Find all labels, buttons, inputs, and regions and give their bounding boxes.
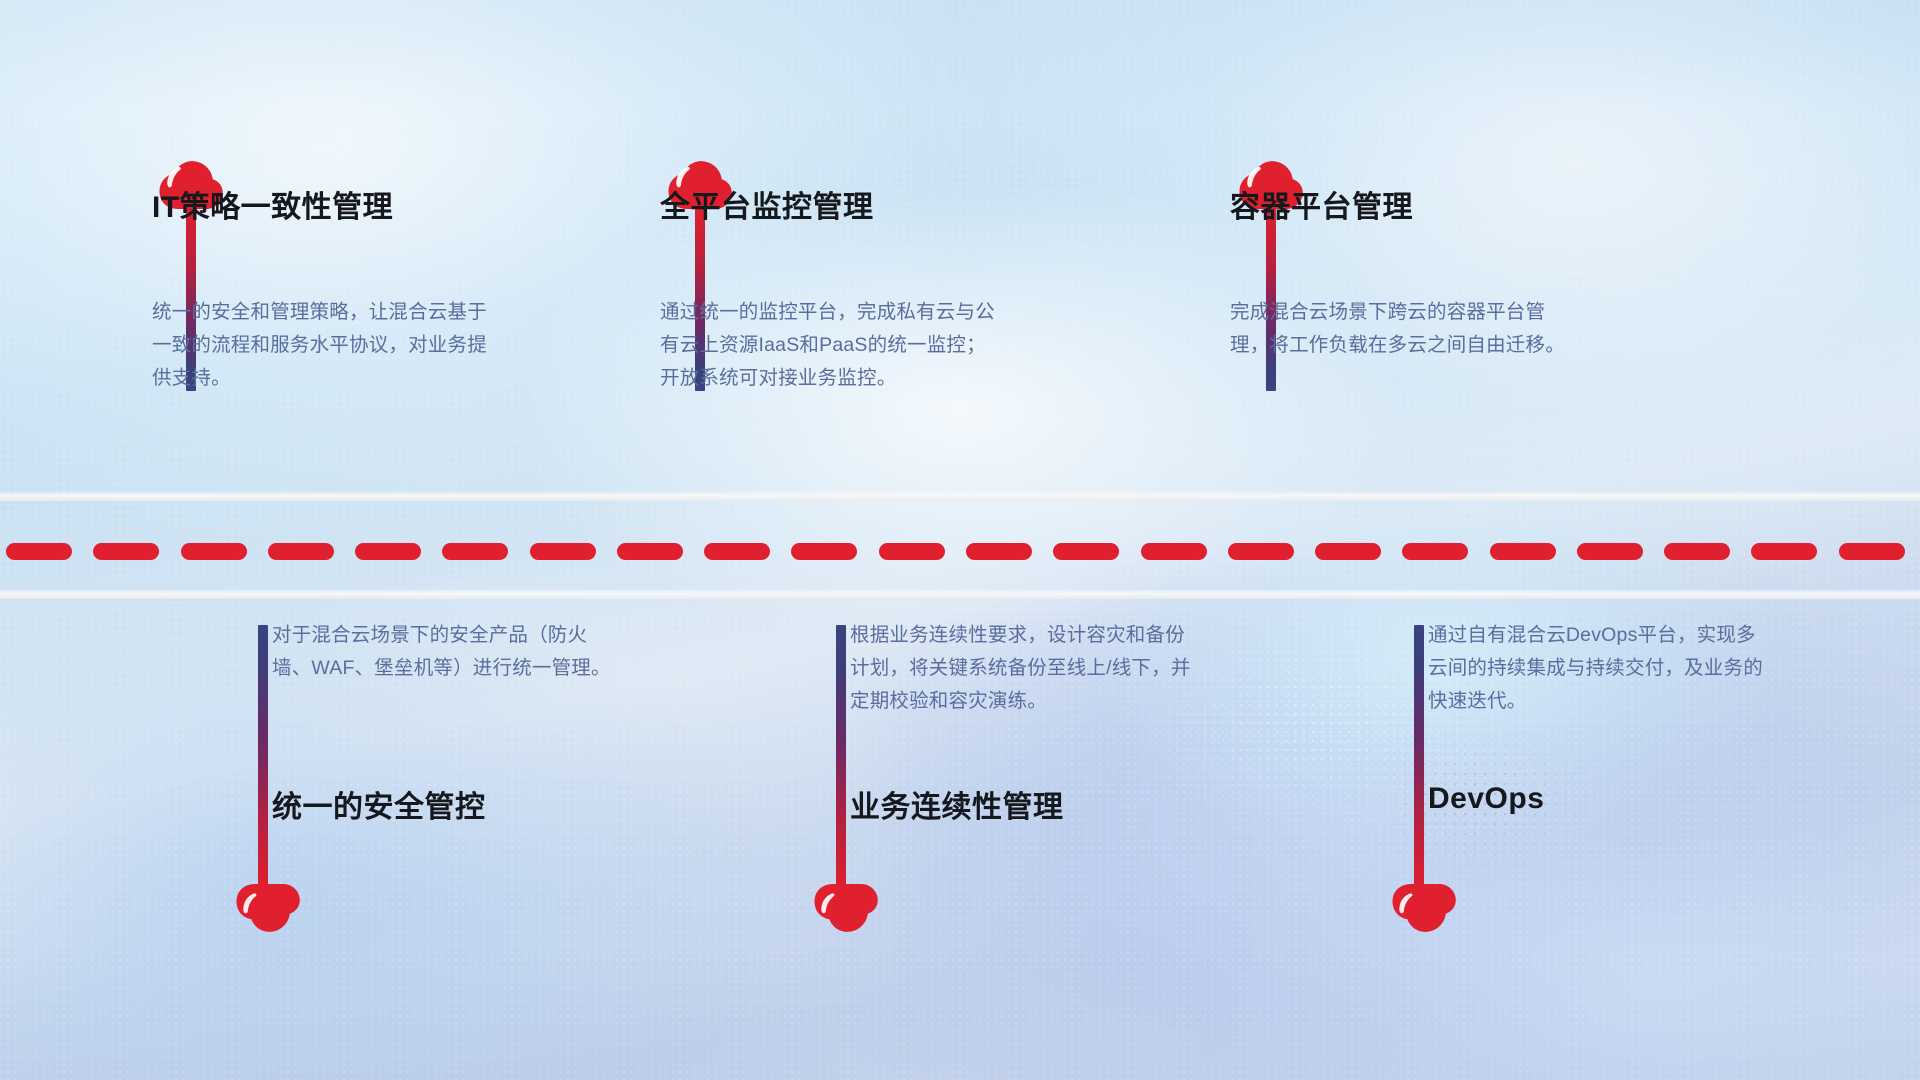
road-dash — [966, 543, 1032, 560]
road-dash — [1751, 543, 1817, 560]
road-dash — [1402, 543, 1468, 560]
cloud-icon — [813, 883, 879, 933]
column-title: 容器平台管理 — [1230, 182, 1413, 226]
road-dash — [1141, 543, 1207, 560]
road-dash — [1490, 543, 1556, 560]
column-body: 通过自有混合云DevOps平台，实现多云间的持续集成与持续交付，及业务的快速迭代… — [1428, 619, 1773, 718]
road-dash — [1664, 543, 1730, 560]
road-center-dashes — [0, 543, 1920, 560]
cloud-icon — [235, 883, 301, 933]
road-dash — [704, 543, 770, 560]
column-body: 对于混合云场景下的安全产品（防火墙、WAF、堡垒机等）进行统一管理。 — [272, 619, 617, 685]
road-dash — [791, 543, 857, 560]
road-dash — [1839, 543, 1905, 560]
column-title: 业务连续性管理 — [850, 782, 1064, 826]
road-dash — [268, 543, 334, 560]
road-dash — [1315, 543, 1381, 560]
road-edge-bottom — [0, 590, 1920, 599]
cloud-icon — [1391, 883, 1457, 933]
stem-connector — [1414, 625, 1424, 890]
road-dash — [181, 543, 247, 560]
column-body: 通过统一的监控平台，完成私有云与公有云上资源IaaS和PaaS的统一监控；开放系… — [660, 296, 1005, 395]
stem-connector — [258, 625, 268, 890]
road-dash — [879, 543, 945, 560]
road-dash — [1053, 543, 1119, 560]
column-body: 根据业务连续性要求，设计容灾和备份计划，将关键系统备份至线上/线下，并定期校验和… — [850, 619, 1195, 718]
road-dash — [442, 543, 508, 560]
road-dash — [355, 543, 421, 560]
column-title: 全平台监控管理 — [660, 182, 874, 226]
road-dash — [617, 543, 683, 560]
column-title: DevOps — [1428, 782, 1544, 816]
road-dash — [1577, 543, 1643, 560]
column-body: 完成混合云场景下跨云的容器平台管理，将工作负载在多云之间自由迁移。 — [1230, 296, 1575, 362]
column-title: 统一的安全管控 — [272, 782, 486, 826]
road-dash — [1228, 543, 1294, 560]
column-title: IT策略一致性管理 — [152, 182, 393, 226]
road-dash — [530, 543, 596, 560]
infographic-canvas: IT策略一致性管理 统一的安全和管理策略，让混合云基于一致的流程和服务水平协议，… — [0, 0, 1920, 1080]
stem-connector — [836, 625, 846, 890]
road-dash — [93, 543, 159, 560]
road-dash — [6, 543, 72, 560]
column-body: 统一的安全和管理策略，让混合云基于一致的流程和服务水平协议，对业务提供支持。 — [152, 296, 497, 395]
road-edge-top — [0, 492, 1920, 501]
